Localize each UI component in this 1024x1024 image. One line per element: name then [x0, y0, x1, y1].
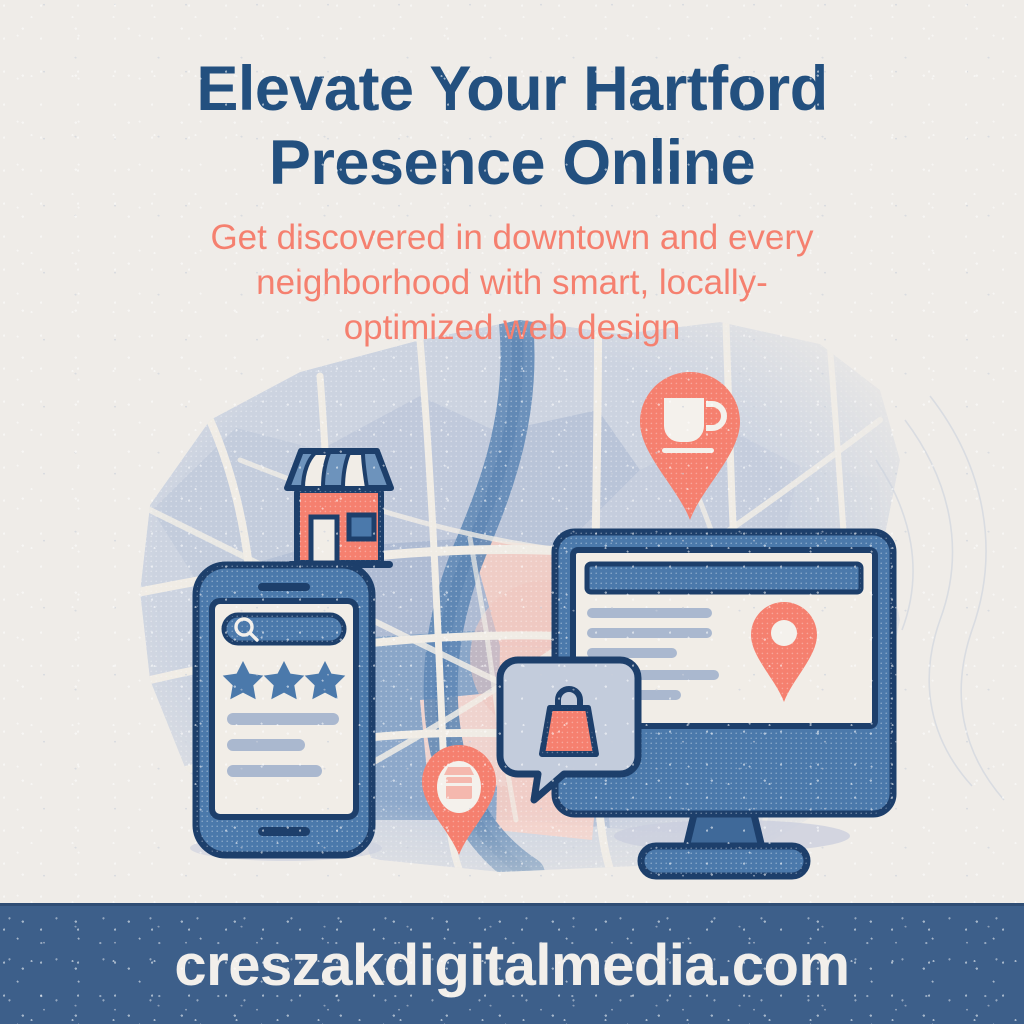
phone-earpiece: [258, 583, 310, 591]
website-url[interactable]: creszakdigitalmedia.com: [174, 932, 849, 999]
phone-search-bar[interactable]: [224, 615, 344, 643]
subhead-line-1: Get discovered in downtown and every: [120, 215, 904, 260]
phone-home-bar[interactable]: [258, 827, 310, 836]
storefront-icon: [287, 451, 393, 568]
footer-divider: [0, 903, 1024, 906]
illustration-stage: [0, 300, 1024, 910]
site-header-bar: [587, 564, 861, 592]
headline-line-1: Elevate Your Hartford: [0, 52, 1024, 126]
promo-poster: Elevate Your Hartford Presence Online Ge…: [0, 0, 1024, 1024]
page-subtitle: Get discovered in downtown and every nei…: [120, 215, 904, 350]
footer-band: creszakdigitalmedia.com: [0, 906, 1024, 1024]
phone-mockup: [196, 565, 372, 855]
headline-line-2: Presence Online: [0, 126, 1024, 200]
page-title: Elevate Your Hartford Presence Online: [0, 52, 1024, 200]
shop-glyph-icon: [437, 761, 481, 813]
subhead-line-2: neighborhood with smart, locally-: [120, 260, 904, 305]
subhead-line-3: optimized web design: [120, 305, 904, 350]
